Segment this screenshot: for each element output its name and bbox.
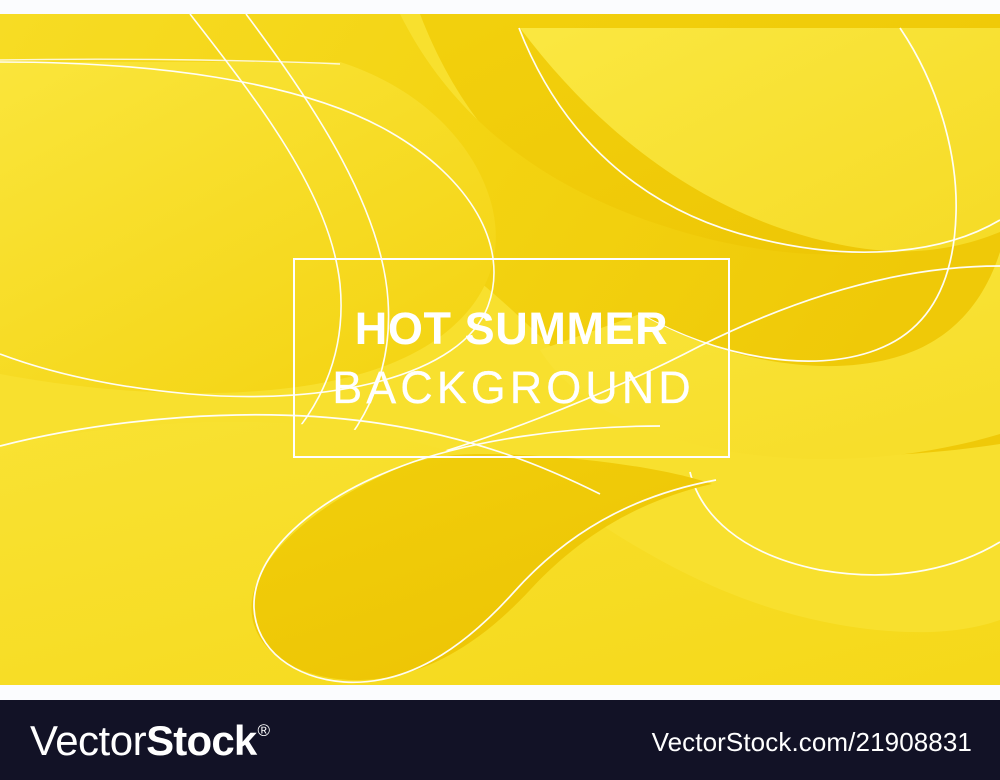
subline-text: BACKGROUND [328,365,695,410]
registered-trademark-icon: ® [257,722,270,739]
logo-stock-text: Stock [146,720,256,762]
white-separator-band [0,685,1000,700]
title-frame: HOT SUMMER BACKGROUND [293,258,730,458]
headline-text: HOT SUMMER [355,306,669,351]
screenshot-stage: HOT SUMMER BACKGROUND VectorStock® Vecto… [0,0,1000,780]
footer-url-text[interactable]: VectorStock.com/21908831 [652,727,972,758]
vectorstock-logo[interactable]: VectorStock® [30,718,270,764]
logo-vector-text: Vector [30,720,146,762]
